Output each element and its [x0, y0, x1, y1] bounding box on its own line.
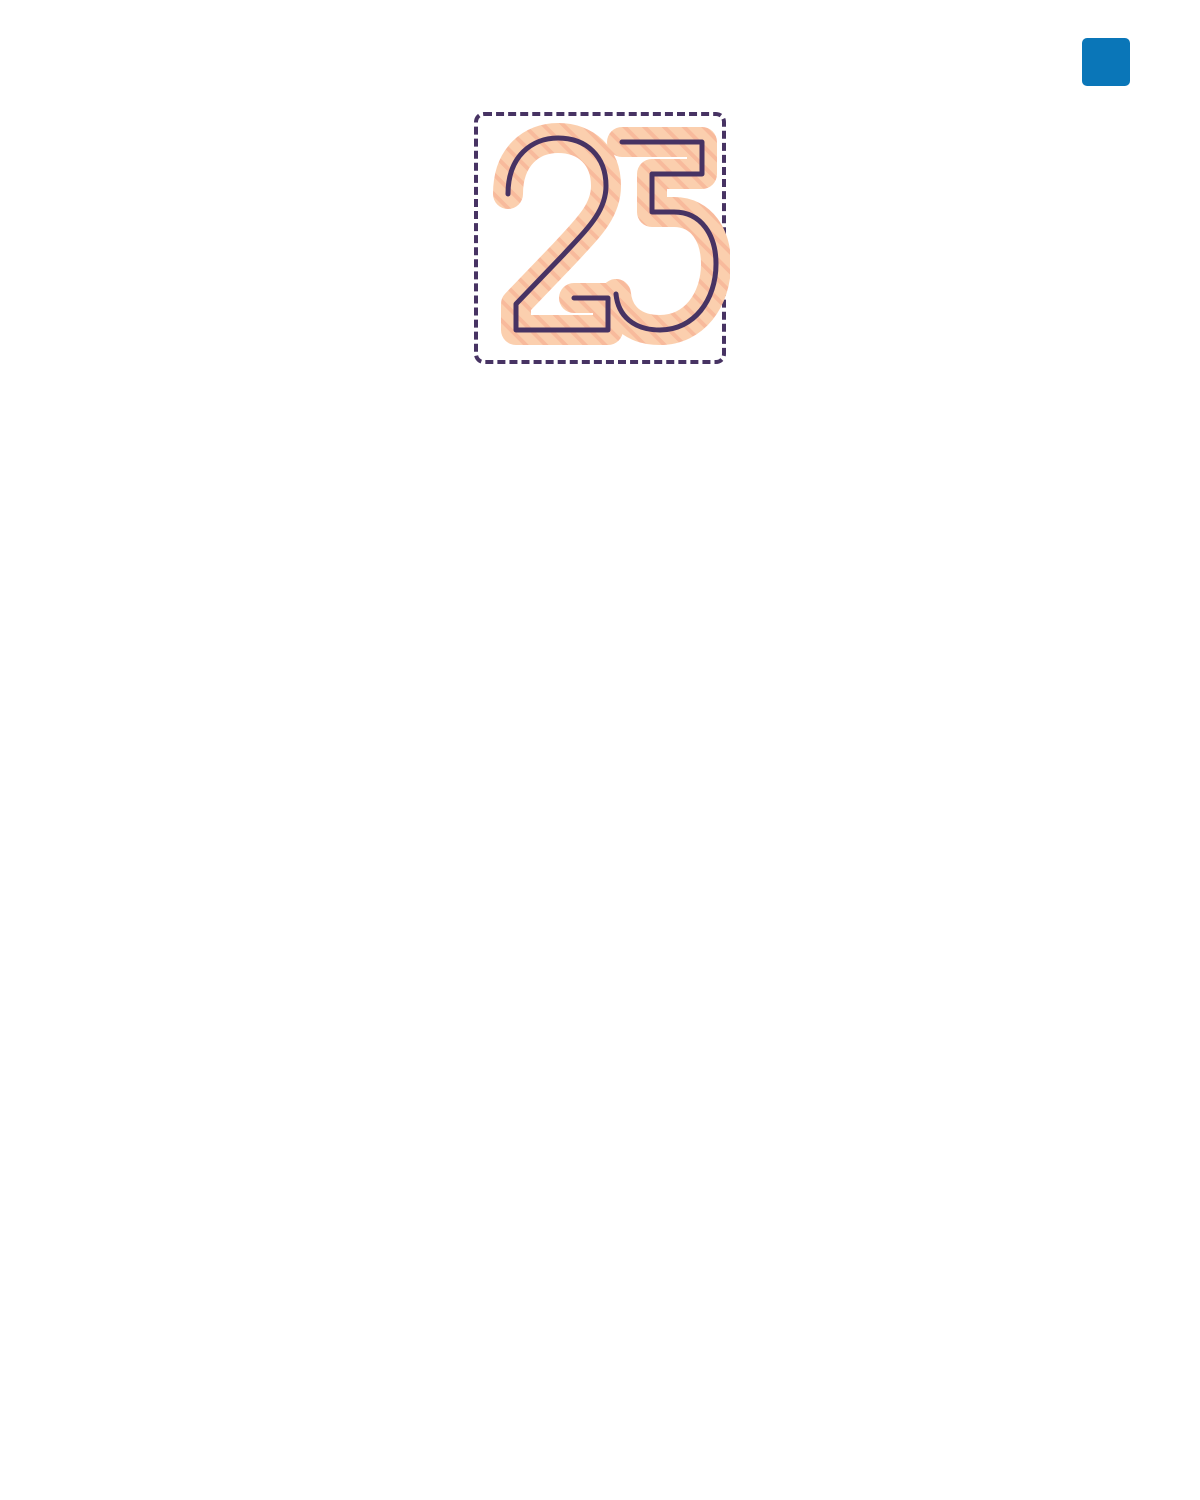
center-plaque: [76, 1092, 908, 1222]
ma-process-diagram: [76, 920, 1084, 1410]
linkedin-icon[interactable]: [1082, 38, 1130, 86]
number-25-illustration: [470, 108, 730, 368]
hero-number-graphic: [0, 112, 1200, 364]
author-credit: [1082, 38, 1144, 86]
process-chevrons: [76, 920, 1084, 1420]
